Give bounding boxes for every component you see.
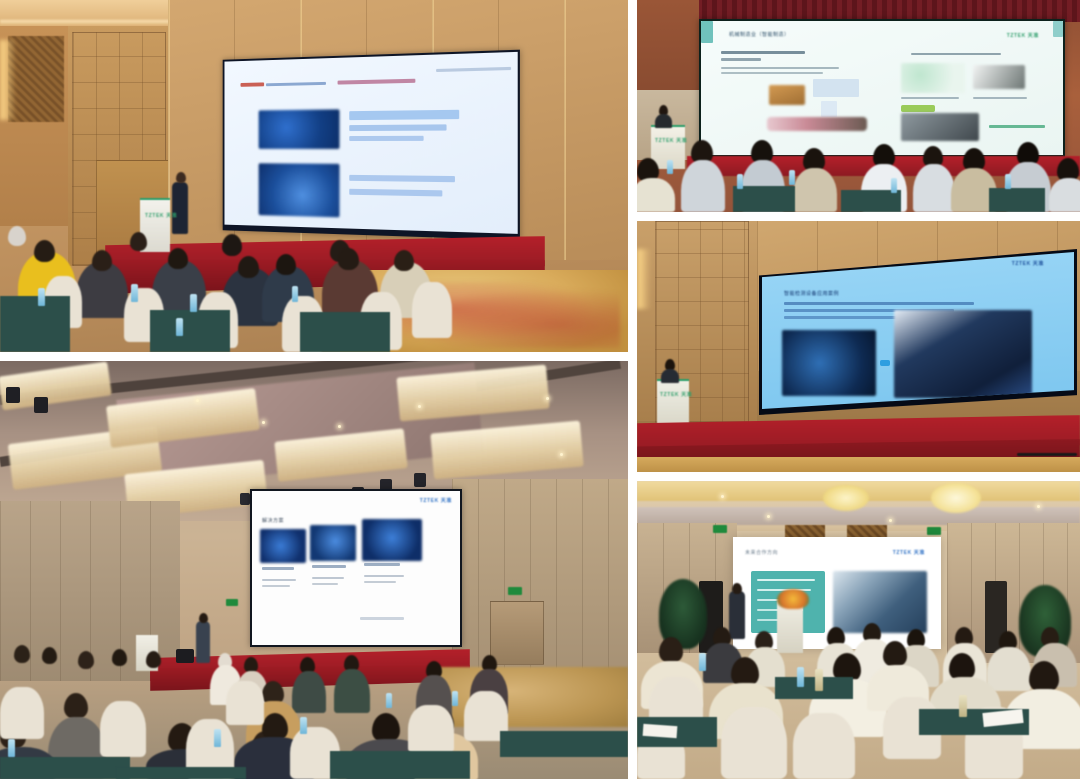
slide-arrow <box>880 360 890 366</box>
panel-bottom-right[interactable]: 未来合作方向 TZTEK 天准 <box>637 481 1080 779</box>
stage-cable <box>1017 453 1077 456</box>
audience-head <box>130 232 147 251</box>
slide-accent-bar-left <box>701 21 713 43</box>
slide-text <box>721 67 839 69</box>
downlight <box>767 515 770 518</box>
water-bottle <box>1005 174 1011 189</box>
ring-chandelier <box>823 485 869 511</box>
stage-light-truss <box>240 493 250 505</box>
slide-logo: TZTEK 天准 <box>420 497 452 504</box>
audience-head <box>168 248 188 269</box>
carpet <box>637 457 1080 472</box>
conference-table <box>775 677 853 699</box>
slide-image-3 <box>362 519 422 561</box>
panel-top-left[interactable]: TZTEK 天准 <box>0 0 628 352</box>
water-bottle <box>300 717 307 734</box>
chair <box>226 681 264 725</box>
slide-text <box>262 585 290 587</box>
slide-text <box>364 575 404 577</box>
slide-caption-1 <box>262 567 294 570</box>
audience-head <box>659 637 683 663</box>
water-bottle <box>959 695 967 717</box>
slide-logo: TZTEK 天准 <box>1007 32 1039 39</box>
audience-head <box>92 250 112 271</box>
water-bottle <box>8 739 15 757</box>
speaker-head <box>199 613 208 623</box>
podium-logo: TZTEK 天准 <box>660 391 692 398</box>
water-bottle <box>667 160 673 174</box>
audience-head <box>8 226 26 246</box>
audience-body <box>913 164 955 212</box>
podium-logo: TZTEK 天准 <box>655 137 687 144</box>
audience-head <box>883 641 907 667</box>
slide-header-accent <box>338 79 416 85</box>
water-bottle <box>815 669 823 691</box>
conference-table <box>300 312 390 352</box>
speaker-head <box>176 172 186 183</box>
chair <box>408 705 454 753</box>
slide-text <box>901 97 959 99</box>
presentation-screen[interactable]: TZTEK 天准 解决方案 <box>250 489 462 647</box>
slide-text-2a <box>349 175 455 182</box>
downlight <box>560 453 563 456</box>
slide-text <box>973 97 1027 99</box>
water-bottle <box>38 288 45 306</box>
slide-photo-arm <box>973 65 1025 89</box>
stage-light-truss <box>414 473 426 487</box>
wall-right-seams <box>452 479 628 699</box>
chair <box>793 713 855 779</box>
slide-image-1 <box>259 109 340 149</box>
slide-text <box>911 53 1001 55</box>
slide-flowchart <box>901 63 965 93</box>
slide-badge <box>901 105 935 112</box>
slide-diagram-box <box>813 79 859 97</box>
chair <box>0 687 44 739</box>
wall-lattice-decor <box>8 36 64 122</box>
water-bottle <box>699 653 706 671</box>
slide-image-1 <box>260 529 306 563</box>
audience-head <box>64 693 88 719</box>
slide-diagram-machine <box>769 85 805 105</box>
audience-head <box>146 651 161 668</box>
water-bottle <box>386 693 392 708</box>
slide-surface: TZTEK 天准 解决方案 <box>252 491 460 645</box>
slide-logo: TZTEK 天准 <box>1012 260 1044 267</box>
wall-uplight <box>0 40 16 120</box>
conference-table <box>841 190 901 212</box>
slide-accent-bar-right <box>1053 21 1063 37</box>
slide-text <box>721 51 805 54</box>
speaker-body <box>729 591 745 639</box>
slide-text-1b <box>349 124 446 131</box>
slide-text <box>721 72 823 74</box>
exit-sign <box>508 587 522 595</box>
slide-text-1a <box>349 110 459 120</box>
slide-header-left <box>241 82 265 86</box>
speaker-body <box>661 369 679 383</box>
audience-head <box>238 256 259 278</box>
notepad <box>643 724 678 738</box>
slide-photo-factory <box>901 113 979 141</box>
audience-head <box>14 645 30 663</box>
slide-header-text <box>266 82 326 86</box>
water-bottle <box>737 174 743 189</box>
ring-chandelier <box>931 483 981 513</box>
water-bottle <box>214 729 221 747</box>
audience-head <box>394 250 414 271</box>
water-bottle <box>891 178 897 193</box>
speaker-body <box>172 182 188 234</box>
audience-head <box>42 647 57 664</box>
audience-head <box>222 234 242 256</box>
audience-body <box>292 671 326 713</box>
water-bottle <box>131 284 138 302</box>
slide-text-1c <box>349 136 423 141</box>
downlight <box>1037 505 1040 508</box>
water-bottle <box>190 294 197 312</box>
flower-arrangement <box>777 589 809 609</box>
door-right <box>490 601 544 665</box>
audience-body <box>1049 178 1080 212</box>
slide-text <box>312 577 344 579</box>
chair <box>721 707 787 779</box>
slide-title: 未来合作方向 <box>745 549 778 556</box>
stage-light-truss <box>6 387 20 403</box>
water-bottle <box>292 286 298 302</box>
panel-top-right[interactable]: 机械制造业（智能制造） TZTEK 天准 <box>637 0 1080 212</box>
exit-sign <box>226 599 238 606</box>
slide-image-2 <box>310 525 356 561</box>
presentation-screen[interactable] <box>223 50 520 241</box>
audience-head <box>112 649 127 666</box>
slide-image-handshake <box>833 571 927 633</box>
audience-head <box>78 651 94 669</box>
slide-diagram-line <box>767 117 867 131</box>
conference-table <box>989 188 1045 212</box>
conference-table <box>500 731 628 757</box>
audience-head <box>338 248 359 270</box>
slide-title: 机械制造业（智能制造） <box>729 31 790 38</box>
slide-text <box>784 302 974 305</box>
slide-list-item <box>757 579 815 581</box>
downlight <box>262 421 265 424</box>
water-bottle <box>797 667 804 687</box>
downlight <box>196 399 199 402</box>
chair <box>100 701 146 757</box>
slide-footer <box>360 617 404 620</box>
slide-surface: 机械制造业（智能制造） TZTEK 天准 <box>701 21 1063 155</box>
audience-body <box>793 168 837 212</box>
speaker-monitor <box>176 649 194 663</box>
slide-logo: TZTEK 天准 <box>893 549 925 556</box>
chair <box>412 282 452 338</box>
speaker-body <box>655 114 672 128</box>
audience-body <box>681 160 725 212</box>
water-bottle <box>452 691 458 706</box>
exit-sign <box>927 527 941 535</box>
stage-light-truss <box>34 397 48 413</box>
conference-table <box>150 310 230 352</box>
slide-title: 解决方案 <box>262 517 284 524</box>
downlight <box>338 425 341 428</box>
downlight <box>721 495 724 498</box>
carpet <box>430 667 628 727</box>
slide-title: 智能检测设备应用案例 <box>784 290 839 297</box>
slide-image-2 <box>259 163 340 217</box>
slide-text <box>312 583 338 585</box>
podium-logo: TZTEK 天准 <box>145 212 177 219</box>
speaker-body <box>196 621 210 663</box>
slide-image-manual-inspection <box>782 330 876 396</box>
slide-text <box>721 58 761 61</box>
water-bottle <box>176 318 183 336</box>
audience-body <box>987 647 1031 691</box>
panel-bottom-left[interactable]: TZTEK 天准 解决方案 <box>0 361 628 779</box>
panel-mid-right[interactable]: TZTEK 天准 智能检测设备应用案例 TZTEK 天准 <box>637 221 1080 472</box>
photo-collage: TZTEK 天准 <box>0 0 1080 779</box>
conference-table <box>116 767 246 779</box>
downlight <box>889 519 892 522</box>
conference-table <box>0 757 130 779</box>
slide-caption-2 <box>312 565 346 568</box>
slide-surface <box>224 52 517 234</box>
slide-text-2b <box>349 189 442 197</box>
slide-diagram-box <box>821 101 837 117</box>
wall-uplight <box>637 249 651 309</box>
slide-header-far-right <box>436 67 511 72</box>
audience-head <box>276 254 296 275</box>
slide-text <box>784 316 904 319</box>
exit-sign <box>713 525 727 533</box>
slide-caption-3 <box>364 563 400 566</box>
audience-body <box>637 178 675 212</box>
downlight <box>418 405 421 408</box>
slide-text <box>364 581 396 583</box>
conference-table <box>0 296 70 352</box>
slide-text <box>989 125 1045 128</box>
slide-image-auto-inspection <box>894 310 1032 398</box>
downlight <box>546 397 549 400</box>
speaker-head <box>732 583 742 594</box>
presentation-screen[interactable]: 机械制造业（智能制造） TZTEK 天准 <box>699 19 1065 157</box>
conference-table <box>330 751 470 779</box>
presentation-screen[interactable]: TZTEK 天准 智能检测设备应用案例 <box>759 249 1077 415</box>
audience-head <box>34 240 55 262</box>
slide-surface: TZTEK 天准 智能检测设备应用案例 <box>762 252 1074 409</box>
conference-table <box>733 186 795 212</box>
slide-text <box>262 579 296 581</box>
water-bottle <box>789 170 795 185</box>
audience-body <box>334 669 370 713</box>
